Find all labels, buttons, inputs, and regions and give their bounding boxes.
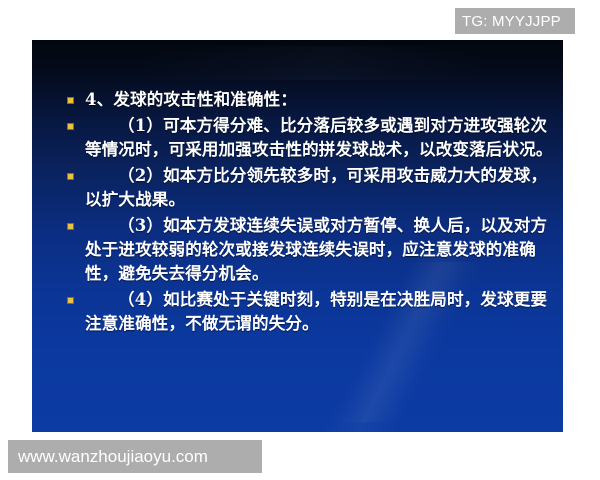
site-watermark-text: www.wanzhoujiaoyu.com	[18, 447, 208, 467]
slide-top-sheen	[32, 46, 563, 80]
square-bullet-icon	[67, 97, 74, 104]
bullet-paragraph-4-text: （3）如本方发球连续失误或对方暂停、换人后，以及对方处于进攻较弱的轮次或接发球连…	[85, 214, 555, 286]
slide-body-text: 4、发球的攻击性和准确性： （1）可本方得分难、比分落后较多或遇到对方进攻强轮次…	[65, 88, 555, 338]
square-bullet-icon	[67, 123, 74, 130]
site-watermark-bar: www.wanzhoujiaoyu.com	[8, 440, 262, 473]
bullet-paragraph-5: （4）如比赛处于关键时刻，特别是在决胜局时，发球更要注意准确性，不做无谓的失分。	[65, 288, 555, 336]
bullet-paragraph-1-text: 4、发球的攻击性和准确性：	[85, 88, 555, 112]
square-bullet-icon	[67, 223, 74, 230]
presentation-slide: 4、发球的攻击性和准确性： （1）可本方得分难、比分落后较多或遇到对方进攻强轮次…	[32, 40, 563, 432]
square-bullet-icon	[67, 173, 74, 180]
bullet-paragraph-3-text: （2）如本方比分领先较多时，可采用攻击威力大的发球，以扩大战果。	[85, 164, 555, 212]
uploader-watermark-badge: TG: MYYJJPP	[455, 8, 575, 34]
bullet-paragraph-1: 4、发球的攻击性和准确性：	[65, 88, 555, 112]
bullet-paragraph-2: （1）可本方得分难、比分落后较多或遇到对方进攻强轮次等情况时，可采用加强攻击性的…	[65, 114, 555, 162]
square-bullet-icon	[67, 297, 74, 304]
bullet-paragraph-5-text: （4）如比赛处于关键时刻，特别是在决胜局时，发球更要注意准确性，不做无谓的失分。	[85, 288, 555, 336]
bullet-paragraph-4: （3）如本方发球连续失误或对方暂停、换人后，以及对方处于进攻较弱的轮次或接发球连…	[65, 214, 555, 286]
bullet-paragraph-3: （2）如本方比分领先较多时，可采用攻击威力大的发球，以扩大战果。	[65, 164, 555, 212]
uploader-watermark-text: TG: MYYJJPP	[462, 13, 561, 30]
bullet-paragraph-2-text: （1）可本方得分难、比分落后较多或遇到对方进攻强轮次等情况时，可采用加强攻击性的…	[85, 114, 555, 162]
